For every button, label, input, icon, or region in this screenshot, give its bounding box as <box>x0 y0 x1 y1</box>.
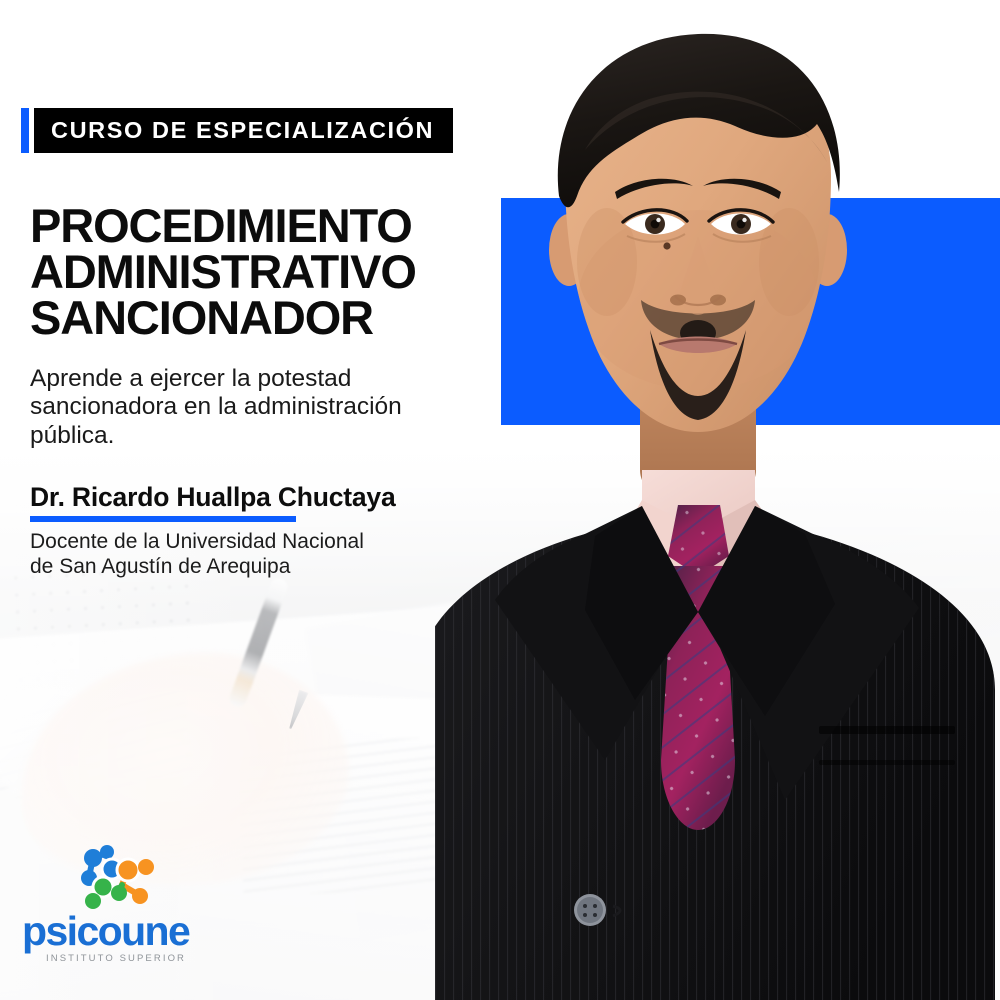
course-title-line-1: PROCEDIMIENTO <box>30 203 500 249</box>
course-title: PROCEDIMIENTO ADMINISTRATIVO SANCIONADOR <box>30 203 500 341</box>
course-subtitle: Aprende a ejercer la potestad sancionado… <box>30 365 490 450</box>
speaker-role: Docente de la Universidad Nacional de Sa… <box>30 529 480 579</box>
speaker-portrait-photo <box>435 0 1000 1000</box>
course-title-line-3: SANCIONADOR <box>30 295 500 341</box>
speaker-role-line-2: de San Agustín de Arequipa <box>30 554 480 579</box>
speaker-name: Dr. Ricardo Huallpa Chuctaya <box>30 483 480 512</box>
eyebrow-label-box: CURSO DE ESPECIALIZACIÓN <box>34 108 453 153</box>
eyebrow-banner: CURSO DE ESPECIALIZACIÓN <box>21 108 453 153</box>
eyebrow-accent-bar <box>21 108 29 153</box>
molecule-icon <box>60 845 165 917</box>
logo-wordmark: psicoune <box>22 911 202 952</box>
course-title-line-2: ADMINISTRATIVO <box>30 249 500 295</box>
speaker-info: Dr. Ricardo Huallpa Chuctaya Docente de … <box>30 483 480 580</box>
speaker-role-line-1: Docente de la Universidad Nacional <box>30 529 480 554</box>
logo-tagline: INSTITUTO SUPERIOR <box>46 953 202 964</box>
speaker-underline <box>30 516 296 522</box>
course-promo-poster: CURSO DE ESPECIALIZACIÓN PROCEDIMIENTO A… <box>0 0 1000 1000</box>
eyebrow-label: CURSO DE ESPECIALIZACIÓN <box>51 119 434 143</box>
institution-logo: psicoune INSTITUTO SUPERIOR <box>22 845 202 964</box>
